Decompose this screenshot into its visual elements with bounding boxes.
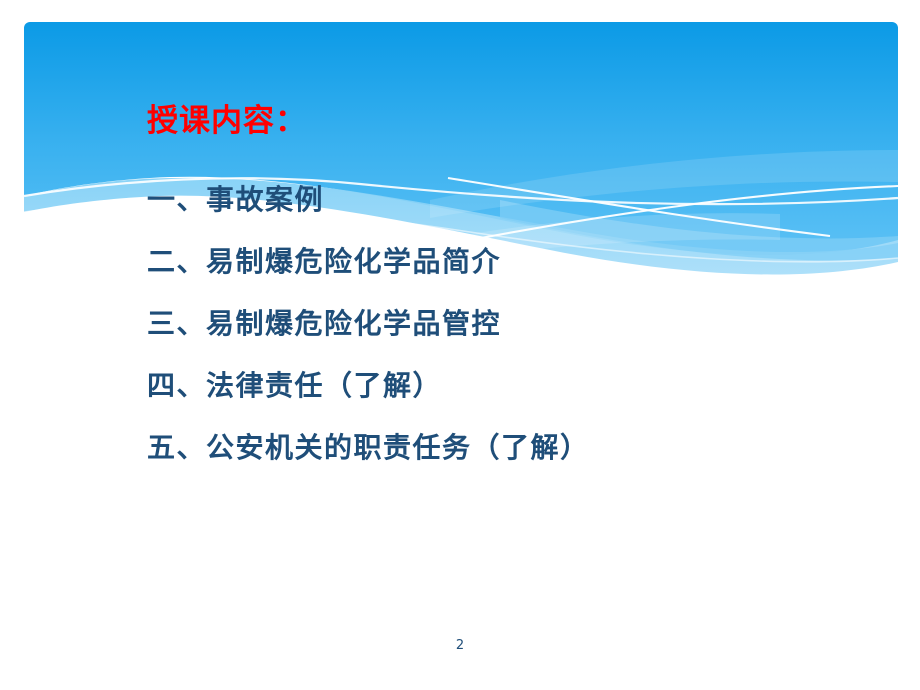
outline-item-3: 三、易制爆危险化学品管控 bbox=[147, 304, 887, 366]
slide-canvas: 授课内容： 一、事故案例 二、易制爆危险化学品简介 三、易制爆危险化学品管控 四… bbox=[0, 0, 920, 690]
outline-item-2: 二、易制爆危险化学品简介 bbox=[147, 242, 887, 304]
outline-item-5: 五、公安机关的职责任务（了解） bbox=[147, 428, 887, 490]
page-number: 2 bbox=[0, 638, 920, 653]
outline-list: 一、事故案例 二、易制爆危险化学品简介 三、易制爆危险化学品管控 四、法律责任（… bbox=[147, 180, 887, 490]
outline-item-1: 一、事故案例 bbox=[147, 180, 887, 242]
slide-content: 授课内容： 一、事故案例 二、易制爆危险化学品简介 三、易制爆危险化学品管控 四… bbox=[0, 0, 920, 690]
page-title: 授课内容： bbox=[147, 104, 307, 140]
outline-item-4: 四、法律责任（了解） bbox=[147, 366, 887, 428]
